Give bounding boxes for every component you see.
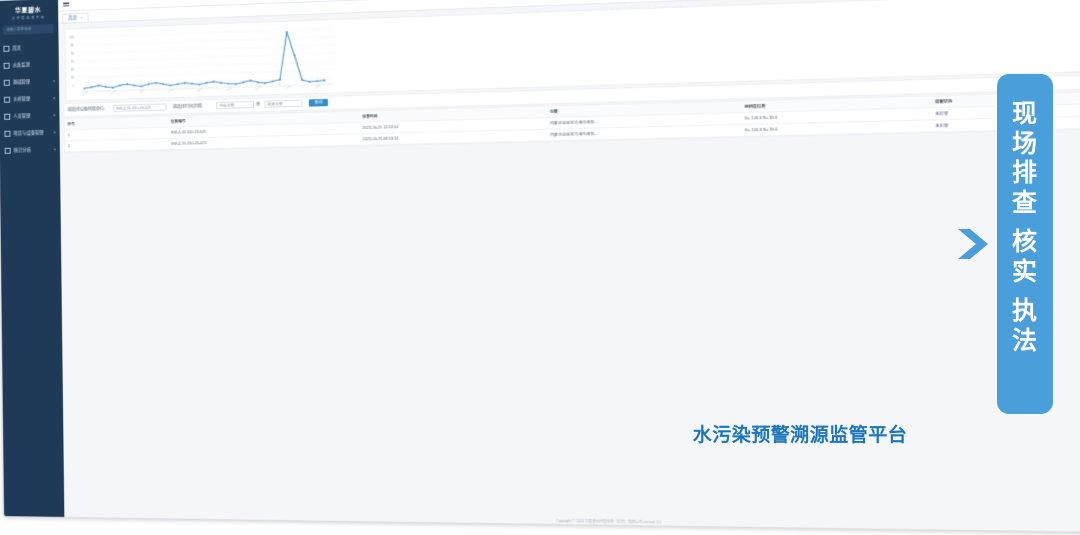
platform-screenshot-panel: 华夏碧水 水 环 境 监 测 平 台 请输入菜单名称 首页 水质监测	[0, 0, 330, 180]
device-filter-label: 请选择设备所属单位:	[67, 106, 105, 113]
enforcement-text: 现 场 排 查 核 实 执 法	[997, 100, 1053, 356]
chevron-down-icon: ▾	[53, 78, 55, 83]
enforcement-line-1: 现 场 排 查	[997, 100, 1053, 218]
platform-sidebar: 华夏碧水 水 环 境 监 测 平 台 请输入菜单名称 首页 水质监测	[0, 0, 64, 517]
sidebar-item-basic-manage[interactable]: 基础管理 ▾	[0, 72, 59, 91]
range-separator: 至	[256, 101, 260, 107]
end-date-placeholder: 结束日期	[268, 102, 283, 108]
end-date-input[interactable]: 结束日期	[264, 100, 302, 108]
wave-icon	[4, 62, 10, 68]
enforcement-line-2: 核 实	[997, 228, 1053, 287]
device-select-value: SW-Z-19-310-23-025	[116, 106, 151, 111]
sidebar-item-label: 统计分析	[14, 147, 31, 153]
cell-time: 2023-10-25 12:53:54	[359, 121, 547, 130]
chevron-down-icon: ▾	[54, 130, 56, 135]
sidebar-item-project-device[interactable]: 项目与设备管理 ▾	[0, 123, 60, 142]
sidebar-item-sample-manage[interactable]: 水样管理 ▾	[0, 89, 59, 108]
chart-icon	[5, 147, 11, 153]
svg-text:100: 100	[70, 35, 75, 39]
logo-subtitle: 水 环 境 监 测 平 台	[3, 14, 53, 21]
platform-caption: 水污染预警溯源监管平台	[620, 420, 980, 447]
chevron-down-icon: ▾	[53, 95, 55, 100]
sidebar-item-label: 水样管理	[13, 96, 30, 103]
sidebar-menu: 首页 水质监测 基础管理 ▾ 水样管理 ▾	[0, 38, 60, 159]
sidebar-item-label: 水质监测	[13, 62, 30, 69]
platform-content: 首页 × 精准定位图 [SW-Z-19-310-23-025] 内蒙古自治区乌海…	[58, 0, 1080, 534]
diagram-stage: 安装点位	[0, 0, 1080, 515]
col-index: 序号	[65, 119, 168, 127]
col-time: 采集时间	[359, 109, 547, 119]
sidebar-item-label: 基础管理	[13, 79, 30, 86]
sidebar-item-label: 项目与设备管理	[13, 129, 43, 136]
sidebar-item-statistics[interactable]: 统计分析 ▾	[0, 141, 60, 159]
cell-location: 内蒙古自治区乌海市海勃...	[547, 116, 742, 126]
chevron-down-icon: ▾	[54, 147, 56, 152]
user-icon	[4, 113, 10, 119]
device-icon	[4, 130, 10, 136]
cell-index: 1	[65, 131, 168, 138]
logo-title: 华夏碧水	[3, 4, 53, 15]
cell-coords: E= 106.8 N= 39.6	[741, 112, 931, 121]
grid-icon	[4, 79, 10, 85]
device-select[interactable]: SW-Z-19-310-23-025	[113, 103, 166, 112]
tab-home[interactable]: 首页 ×	[62, 12, 88, 23]
field-enforcement-panel: 现 场 排 查 核 实 执 法	[997, 74, 1053, 414]
cell-time: 2023-10-25 08:53:54	[359, 133, 547, 142]
range-filter-label: 请选择时间范围:	[173, 103, 203, 110]
start-date-input[interactable]: 开始日期	[216, 101, 254, 109]
platform-window: 华夏碧水 水 环 境 监 测 平 台 请输入菜单名称 首页 水质监测	[0, 0, 1080, 535]
sidebar-search-placeholder: 请输入菜单名称	[6, 27, 31, 33]
platform-footer: Copyright © 2023 华夏碧水环境科技（北京）有限公司 versio…	[64, 511, 1080, 533]
cell-location: 内蒙古自治区乌海市海勃...	[547, 128, 742, 138]
close-icon[interactable]: ×	[80, 15, 82, 20]
start-date-placeholder: 开始日期	[219, 104, 234, 110]
sidebar-search-input[interactable]: 请输入菜单名称	[3, 24, 53, 35]
platform-logo: 华夏碧水 水 环 境 监 测 平 台	[3, 4, 53, 22]
sidebar-item-home[interactable]: 首页	[0, 38, 59, 57]
drop-icon	[4, 96, 10, 102]
tab-label: 首页	[68, 15, 77, 21]
star-icon	[3, 45, 9, 51]
flow-arrow-3	[954, 224, 994, 264]
cell-coords: E= 106.8 N= 39.6	[741, 124, 931, 133]
sidebar-item-water-monitor[interactable]: 水质监测	[0, 55, 59, 74]
cell-device: SW-Z-19-310-23-025	[168, 126, 359, 135]
sidebar-item-personnel[interactable]: 人员管理 ▾	[0, 106, 60, 125]
col-coords: 经纬度信息	[741, 99, 931, 109]
sidebar-item-label: 人员管理	[13, 113, 30, 119]
search-button[interactable]: 查询	[309, 99, 328, 107]
sidebar-item-label: 首页	[12, 45, 21, 51]
col-location: 位置	[546, 104, 741, 114]
enforcement-line-3: 执 法	[997, 297, 1053, 356]
cell-device: SW-Z-19-310-23-025	[168, 137, 359, 146]
chevron-down-icon: ▾	[53, 112, 55, 117]
search-button-label: 查询	[314, 100, 322, 105]
hamburger-icon[interactable]	[63, 2, 69, 7]
cell-index: 2	[65, 142, 168, 148]
